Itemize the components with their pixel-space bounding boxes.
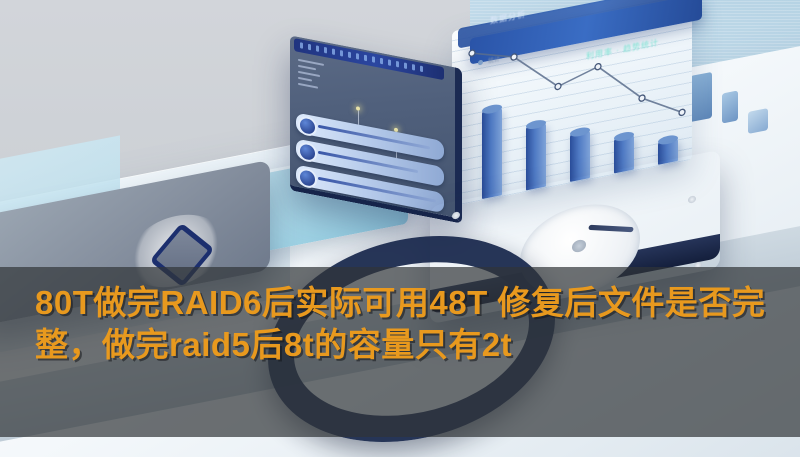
screen-pin-stem-1: [358, 111, 359, 125]
illustration-canvas: 数据分析 利用率 · 趋势统计 统计: [0, 0, 800, 457]
accessory-block-2: [722, 90, 738, 123]
row-progress-bar: [318, 151, 418, 173]
accessory-block-3: [748, 108, 768, 134]
bar-2: [526, 123, 546, 191]
bar-3: [570, 130, 590, 182]
accessory-block-1: [690, 72, 712, 122]
bar-1: [482, 107, 502, 199]
disk-icon: [298, 167, 317, 190]
caption-text: 80T做完RAID6后实际可用48T 修复后文件是否完整，做完raid5后8t的…: [35, 282, 775, 366]
disk-icon: [298, 115, 317, 138]
disk-icon: [298, 141, 317, 164]
screen-side-lines: [298, 59, 328, 95]
laptop-screen: [290, 35, 462, 223]
